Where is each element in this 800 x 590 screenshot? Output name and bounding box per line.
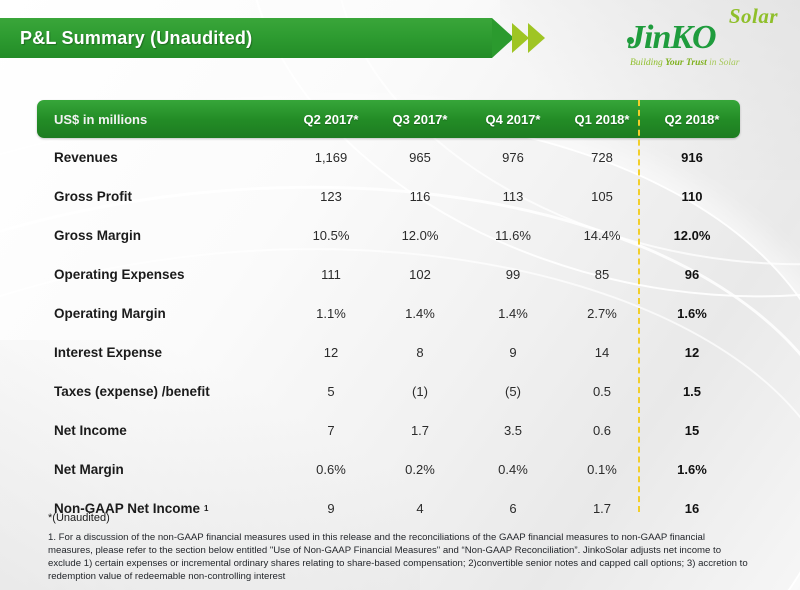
- row-value: (1): [382, 372, 458, 411]
- table-row: Gross Profit 123 116 113 105 110: [37, 177, 740, 216]
- row-label-text: Gross Margin: [54, 228, 141, 243]
- row-value: 10.5%: [293, 216, 369, 255]
- banner-arrow-point-icon: [492, 18, 514, 58]
- row-label-text: Gross Profit: [54, 189, 132, 204]
- chevron-right-icon: [528, 23, 545, 53]
- row-value: 976: [475, 138, 551, 177]
- row-value: 2.7%: [564, 294, 640, 333]
- table-row: Operating Margin 1.1% 1.4% 1.4% 2.7% 1.6…: [37, 294, 740, 333]
- row-value: 1.7: [382, 411, 458, 450]
- table-row: Net Income 7 1.7 3.5 0.6 15: [37, 411, 740, 450]
- row-value-highlight: 15: [654, 411, 730, 450]
- logo-brand-o: O: [692, 19, 716, 56]
- column-header-q1-2018: Q1 2018*: [564, 100, 640, 138]
- table-row: Gross Margin 10.5% 12.0% 11.6% 14.4% 12.…: [37, 216, 740, 255]
- logo-dot-icon: [627, 37, 634, 44]
- row-label-text: Revenues: [54, 150, 118, 165]
- row-value-highlight: 12: [654, 333, 730, 372]
- row-value: 14: [564, 333, 640, 372]
- row-value-highlight: 1.6%: [654, 294, 730, 333]
- row-value: 3.5: [475, 411, 551, 450]
- pl-summary-table: US$ in millions Q2 2017* Q3 2017* Q4 201…: [37, 100, 740, 528]
- row-label: Net Income: [37, 411, 131, 450]
- table-row: Net Margin 0.6% 0.2% 0.4% 0.1% 1.6%: [37, 450, 740, 489]
- row-label: Gross Profit: [37, 177, 136, 216]
- logo-solar-word: Solar: [729, 4, 778, 29]
- footnote-unaudited: *(Unaudited): [48, 512, 110, 524]
- row-value: 728: [564, 138, 640, 177]
- row-value-highlight: 12.0%: [654, 216, 730, 255]
- row-value: (5): [475, 372, 551, 411]
- row-value: 14.4%: [564, 216, 640, 255]
- row-value: 0.6%: [293, 450, 369, 489]
- row-label: Taxes (expense) /benefit: [37, 372, 214, 411]
- table-row: Non-GAAP Net Income1 9 4 6 1.7 16: [37, 489, 740, 528]
- table-row: Revenues 1,169 965 976 728 916: [37, 138, 740, 177]
- row-value: 8: [382, 333, 458, 372]
- slide-canvas: P&L Summary (Unaudited) Solar JinKO Buil…: [0, 0, 800, 590]
- jinkosolar-logo: Solar JinKO Building Your Trust in Solar: [624, 4, 784, 76]
- row-value: 0.6: [564, 411, 640, 450]
- row-value: 9: [293, 489, 369, 528]
- column-header-q4-2017: Q4 2017*: [475, 100, 551, 138]
- row-value: 4: [382, 489, 458, 528]
- row-label: Revenues: [37, 138, 122, 177]
- row-value-highlight: 96: [654, 255, 730, 294]
- row-value: 123: [293, 177, 369, 216]
- row-value: 113: [475, 177, 551, 216]
- row-value: 0.1%: [564, 450, 640, 489]
- chevron-right-icon: [512, 23, 529, 53]
- table-row: Taxes (expense) /benefit 5 (1) (5) 0.5 1…: [37, 372, 740, 411]
- row-value: 102: [382, 255, 458, 294]
- logo-brand-k: K: [670, 19, 692, 56]
- logo-brand-word: JinKO: [628, 19, 716, 57]
- row-value: 6: [475, 489, 551, 528]
- row-value: 116: [382, 177, 458, 216]
- row-value: 1.4%: [382, 294, 458, 333]
- row-value: 111: [293, 255, 369, 294]
- row-label: Operating Margin: [37, 294, 170, 333]
- logo-tagline: Building Your Trust in Solar: [630, 58, 739, 68]
- row-label-text: Operating Expenses: [54, 267, 185, 282]
- row-value: 11.6%: [475, 216, 551, 255]
- row-label-superscript: 1: [200, 504, 208, 513]
- row-value: 12.0%: [382, 216, 458, 255]
- row-value: 12: [293, 333, 369, 372]
- row-value: 965: [382, 138, 458, 177]
- row-value-highlight: 110: [654, 177, 730, 216]
- table-row: Operating Expenses 111 102 99 85 96: [37, 255, 740, 294]
- row-value-highlight: 1.5: [654, 372, 730, 411]
- row-value-highlight: 1.6%: [654, 450, 730, 489]
- column-header-q2-2018: Q2 2018*: [654, 100, 730, 138]
- quarter-divider-dashed-line: [638, 100, 640, 512]
- logo-tagline-bold: Your Trust: [665, 58, 707, 68]
- row-label-text: Taxes (expense) /benefit: [54, 384, 210, 399]
- row-value: 5: [293, 372, 369, 411]
- column-header-q2-2017: Q2 2017*: [293, 100, 369, 138]
- row-value: 1.4%: [475, 294, 551, 333]
- title-banner: P&L Summary (Unaudited): [0, 18, 560, 58]
- row-value: 0.5: [564, 372, 640, 411]
- table-corner-label: US$ in millions: [37, 100, 147, 138]
- row-value: 85: [564, 255, 640, 294]
- row-value: 99: [475, 255, 551, 294]
- row-value: 0.2%: [382, 450, 458, 489]
- logo-tagline-post: in Solar: [707, 58, 740, 68]
- row-label-text: Net Margin: [54, 462, 124, 477]
- row-value: 105: [564, 177, 640, 216]
- footnote-non-gaap: 1. For a discussion of the non-GAAP fina…: [48, 531, 748, 583]
- row-value: 1.7: [564, 489, 640, 528]
- row-label: Interest Expense: [37, 333, 166, 372]
- table-header-row: US$ in millions Q2 2017* Q3 2017* Q4 201…: [37, 100, 740, 138]
- row-value: 1.1%: [293, 294, 369, 333]
- logo-tagline-pre: Building: [630, 58, 665, 68]
- page-title: P&L Summary (Unaudited): [20, 18, 252, 58]
- table-row: Interest Expense 12 8 9 14 12: [37, 333, 740, 372]
- row-label: Net Margin: [37, 450, 128, 489]
- row-label: Gross Margin: [37, 216, 145, 255]
- column-header-q3-2017: Q3 2017*: [382, 100, 458, 138]
- logo-brand-jin: Jin: [628, 19, 670, 56]
- row-value-highlight: 16: [654, 489, 730, 528]
- row-value: 1,169: [293, 138, 369, 177]
- row-label-text: Operating Margin: [54, 306, 166, 321]
- row-value: 0.4%: [475, 450, 551, 489]
- row-value: 9: [475, 333, 551, 372]
- row-label-text: Net Income: [54, 423, 127, 438]
- row-label: Operating Expenses: [37, 255, 189, 294]
- row-label-text: Interest Expense: [54, 345, 162, 360]
- row-value-highlight: 916: [654, 138, 730, 177]
- row-value: 7: [293, 411, 369, 450]
